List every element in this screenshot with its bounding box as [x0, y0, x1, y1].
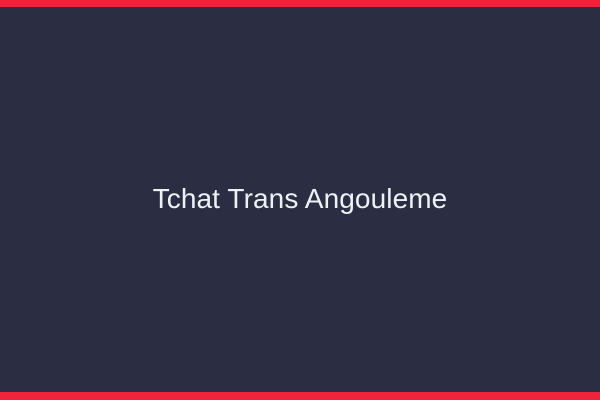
page-title: Tchat Trans Angouleme — [129, 182, 472, 216]
top-accent-rule — [0, 0, 600, 7]
banner-card: Tchat Trans Angouleme — [0, 0, 600, 400]
bottom-accent-rule — [0, 392, 600, 400]
